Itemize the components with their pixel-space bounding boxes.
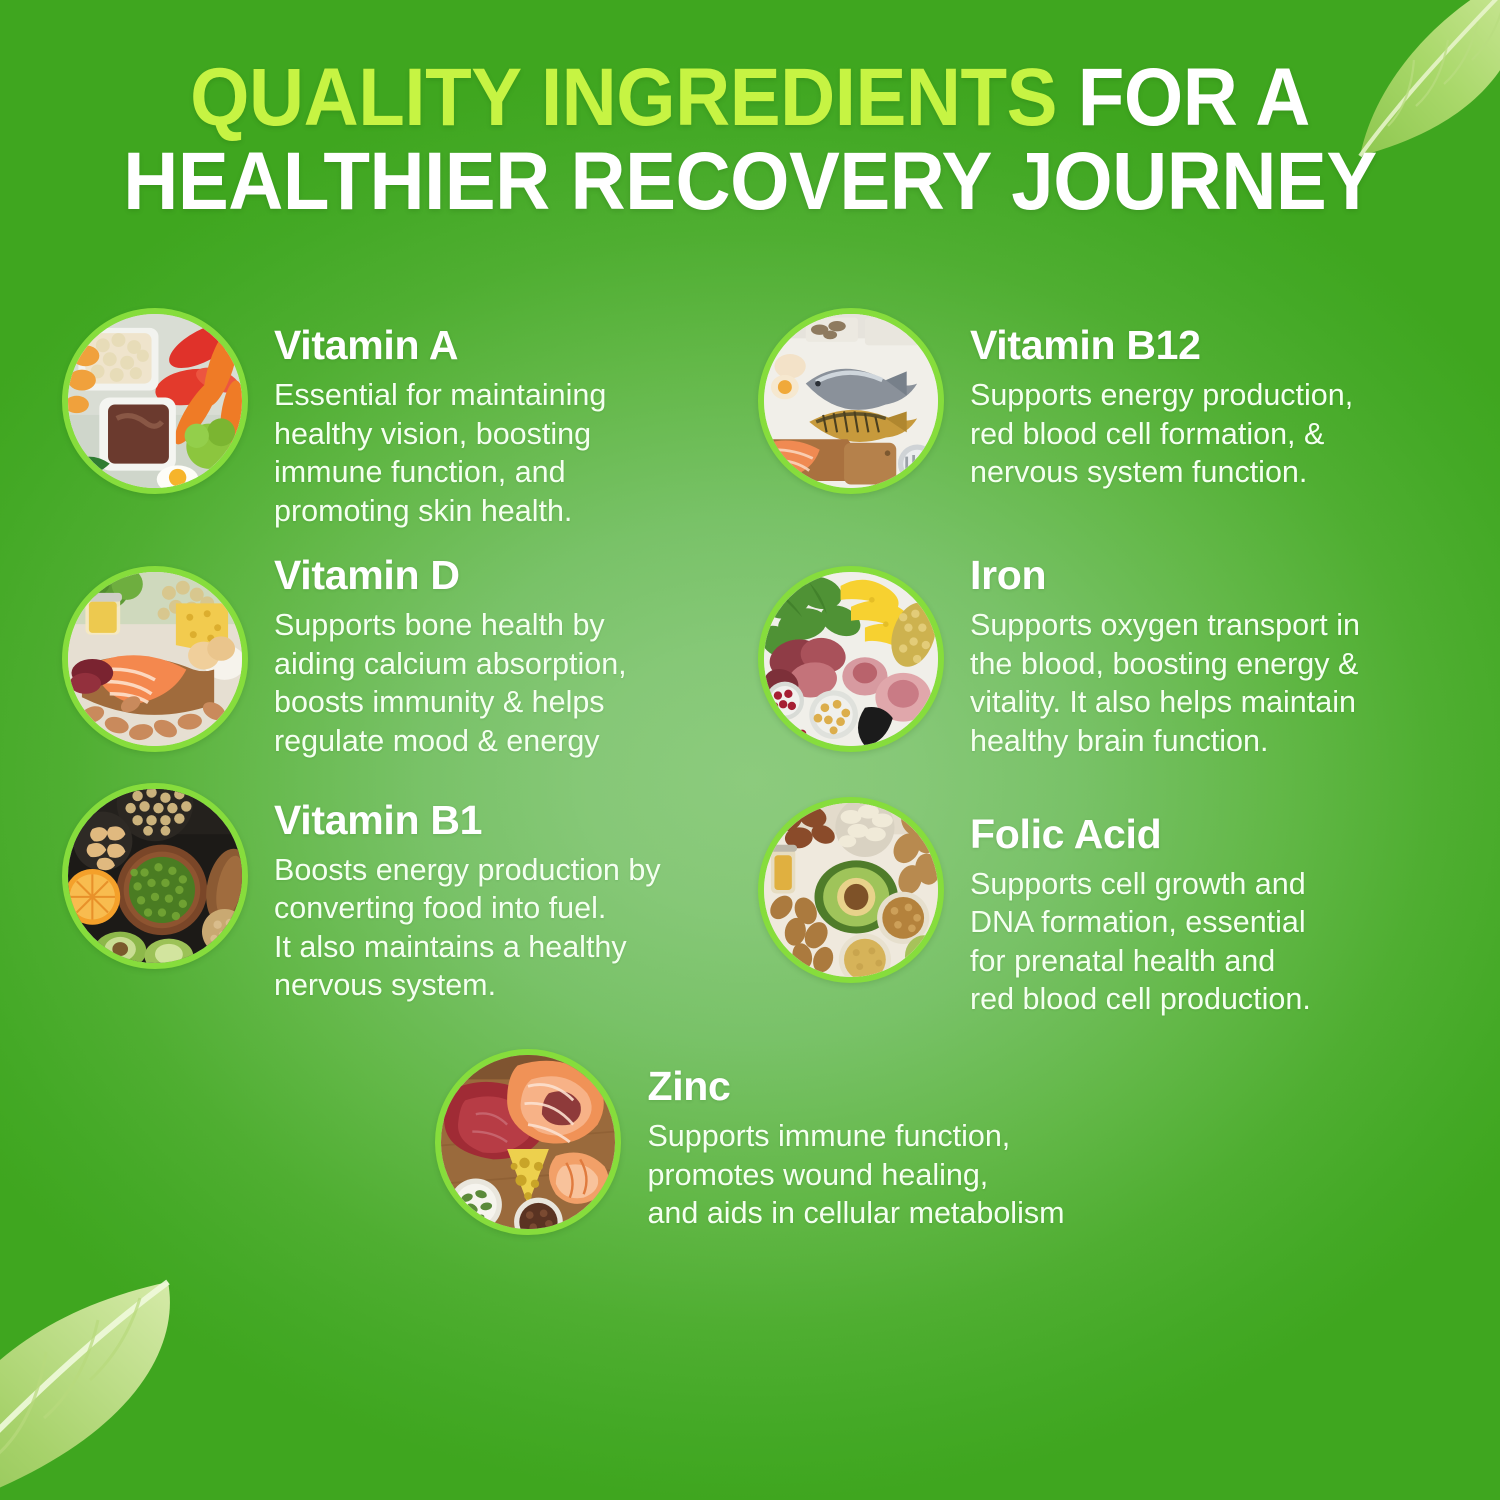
ingredient-description: Boosts energy production by converting f…: [274, 851, 661, 1005]
ingredient-title: Vitamin D: [274, 552, 627, 599]
ingredient-cell: Vitamin A Essential for maintaining heal…: [0, 296, 750, 530]
ingredient-description: Supports bone health by aiding calcium a…: [274, 606, 627, 760]
ingredient-card-iron: Iron Supports oxygen transport in the bl…: [750, 548, 1360, 760]
title-line-1-rest: FOR A: [1057, 52, 1310, 143]
vitamin-a-foods-photo: [62, 308, 248, 494]
ingredient-title: Vitamin B12: [970, 322, 1353, 369]
ingredient-title: Iron: [970, 552, 1360, 599]
folic-acid-foods-photo: [758, 797, 944, 983]
vitamin-b12-foods-photo: [758, 308, 944, 494]
ingredient-title: Vitamin B1: [274, 797, 661, 844]
ingredient-title: Vitamin A: [274, 322, 606, 369]
ingredient-card-folic-acid: Folic Acid Supports cell growth and DNA …: [750, 797, 1311, 1019]
vitamin-b1-foods-photo: [62, 783, 248, 969]
ingredient-row: Vitamin D Supports bone health by aiding…: [0, 548, 1500, 760]
ingredients-grid: Vitamin A Essential for maintaining heal…: [0, 296, 1500, 1235]
ingredient-description: Supports cell growth and DNA formation, …: [970, 865, 1311, 1019]
zinc-foods-photo: [435, 1049, 621, 1235]
ingredient-description: Supports immune function, promotes wound…: [647, 1117, 1064, 1233]
ingredient-cell: Folic Acid Supports cell growth and DNA …: [750, 783, 1500, 1019]
ingredient-card-vitamin-d: Vitamin D Supports bone health by aiding…: [0, 548, 627, 760]
ingredient-card-vitamin-a: Vitamin A Essential for maintaining heal…: [0, 308, 606, 530]
ingredient-cell: Iron Supports oxygen transport in the bl…: [750, 548, 1500, 760]
ingredient-cell: Vitamin D Supports bone health by aiding…: [0, 548, 750, 760]
ingredient-cell: Vitamin B1 Boosts energy production by c…: [0, 783, 750, 1019]
ingredient-title: Folic Acid: [970, 811, 1311, 858]
ingredient-description: Supports oxygen transport in the blood, …: [970, 606, 1360, 760]
ingredient-text: Vitamin B1 Boosts energy production by c…: [274, 783, 661, 1005]
title-line-1: QUALITY INGREDIENTS FOR A: [53, 56, 1448, 140]
ingredient-row: Vitamin A Essential for maintaining heal…: [0, 296, 1500, 530]
ingredient-text: Zinc Supports immune function, promotes …: [647, 1049, 1064, 1233]
ingredient-cell: Vitamin B12 Supports energy production, …: [750, 296, 1500, 530]
ingredient-row: Zinc Supports immune function, promotes …: [0, 1049, 1500, 1235]
ingredient-text: Vitamin D Supports bone health by aiding…: [274, 548, 627, 760]
vitamin-d-foods-photo: [62, 566, 248, 752]
ingredient-card-zinc: Zinc Supports immune function, promotes …: [435, 1049, 1064, 1235]
iron-foods-photo: [758, 566, 944, 752]
ingredient-title: Zinc: [647, 1063, 1064, 1110]
ingredient-row: Vitamin B1 Boosts energy production by c…: [0, 783, 1500, 1019]
ingredient-card-vitamin-b1: Vitamin B1 Boosts energy production by c…: [0, 783, 661, 1005]
ingredient-text: Folic Acid Supports cell growth and DNA …: [970, 797, 1311, 1019]
ingredient-text: Vitamin A Essential for maintaining heal…: [274, 308, 606, 530]
ingredient-card-vitamin-b12: Vitamin B12 Supports energy production, …: [750, 308, 1353, 494]
title-line-2: HEALTHIER RECOVERY JOURNEY: [53, 140, 1448, 224]
ingredient-description: Supports energy production, red blood ce…: [970, 376, 1353, 492]
ingredient-text: Vitamin B12 Supports energy production, …: [970, 308, 1353, 492]
ingredient-text: Iron Supports oxygen transport in the bl…: [970, 548, 1360, 760]
leaf-bottom-left-icon: [0, 1258, 270, 1500]
page-title: QUALITY INGREDIENTS FOR A HEALTHIER RECO…: [0, 56, 1500, 223]
ingredient-description: Essential for maintaining healthy vision…: [274, 376, 606, 530]
title-highlight: QUALITY INGREDIENTS: [190, 52, 1057, 143]
